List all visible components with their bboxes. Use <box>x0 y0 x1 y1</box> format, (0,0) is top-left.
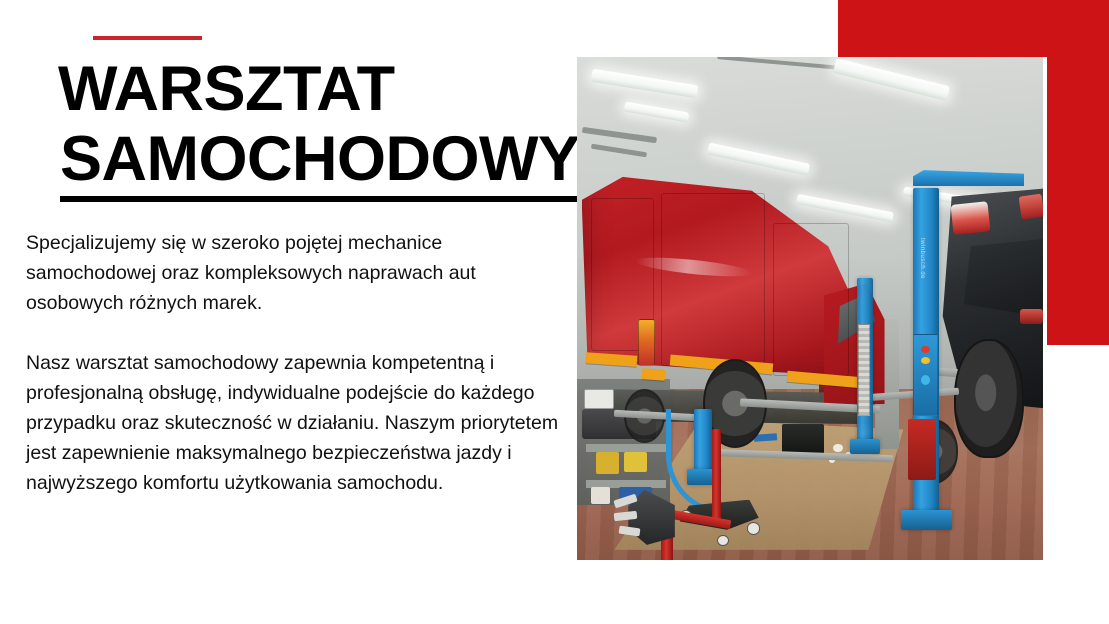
red-accent-rule <box>93 36 202 40</box>
van-panel <box>773 223 850 376</box>
photo-seam <box>1043 57 1047 345</box>
lift-brand-label: twinbusch.de <box>919 238 925 279</box>
lift-control-button <box>921 375 930 385</box>
lift-sticker-strip <box>858 324 870 417</box>
page-title: WARSZTAT SAMOCHODOWY <box>58 54 558 202</box>
lift-control-box <box>913 334 937 416</box>
lift-column-base <box>850 439 880 454</box>
title-line-2: SAMOCHODOWY <box>60 124 579 202</box>
floor-debris <box>833 444 842 452</box>
workshop-photo: twinbusch.de <box>577 57 1043 560</box>
paragraph-2: Nasz warsztat samochodowy zapewnia kompe… <box>26 348 561 498</box>
van-license-plate <box>584 389 614 409</box>
warning-icon <box>921 357 930 364</box>
van-taillight <box>638 319 656 366</box>
shelf-item <box>591 487 610 504</box>
parts-bin <box>782 424 824 454</box>
dark-car-reflector <box>1020 309 1043 324</box>
dark-car-taillight <box>951 201 991 235</box>
van-panel <box>661 193 766 366</box>
slide-canvas: WARSZTAT SAMOCHODOWY Specjalizujemy się … <box>0 0 1109 624</box>
lift-column-base <box>901 510 952 530</box>
title-line-1: WARSZTAT <box>58 54 558 124</box>
shelf-item <box>596 452 619 475</box>
caster-wheel <box>747 522 760 535</box>
dark-car-wheel <box>954 339 1023 459</box>
paragraph-1: Specjalizujemy się w szeroko pojętej mec… <box>26 228 561 318</box>
transmission-jack <box>712 429 720 520</box>
workshop-photo-scene: twinbusch.de <box>577 57 1043 560</box>
tool-trolley <box>908 419 936 479</box>
shelf-item <box>624 452 647 472</box>
emergency-stop-icon <box>921 346 930 353</box>
body-copy: Specjalizujemy się w szeroko pojętej mec… <box>26 228 561 498</box>
dark-car-taillight <box>1018 194 1043 220</box>
van-stripe <box>642 368 666 381</box>
